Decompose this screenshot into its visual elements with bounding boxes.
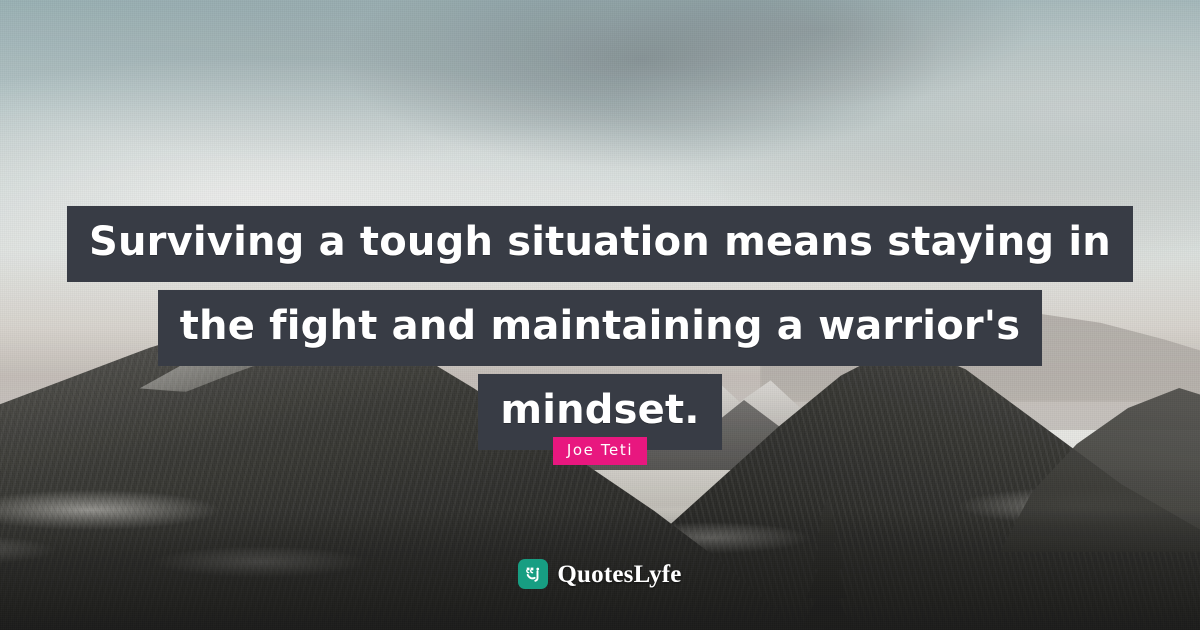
- quote-line-1: Surviving a tough situation means stayin…: [67, 206, 1133, 282]
- brand-name-label: QuotesLyfe: [557, 562, 681, 587]
- quote-line-2: the fight and maintaining a warrior's: [158, 290, 1043, 366]
- quote-block: Surviving a tough situation means stayin…: [0, 206, 1200, 450]
- brand-watermark[interactable]: QuotesLyfe: [0, 559, 1200, 589]
- quote-smiley-icon: [518, 559, 548, 589]
- author-name-badge: Joe Teti: [553, 437, 647, 465]
- author-block: Joe Teti: [0, 437, 1200, 465]
- quote-card: Surviving a tough situation means stayin…: [0, 0, 1200, 630]
